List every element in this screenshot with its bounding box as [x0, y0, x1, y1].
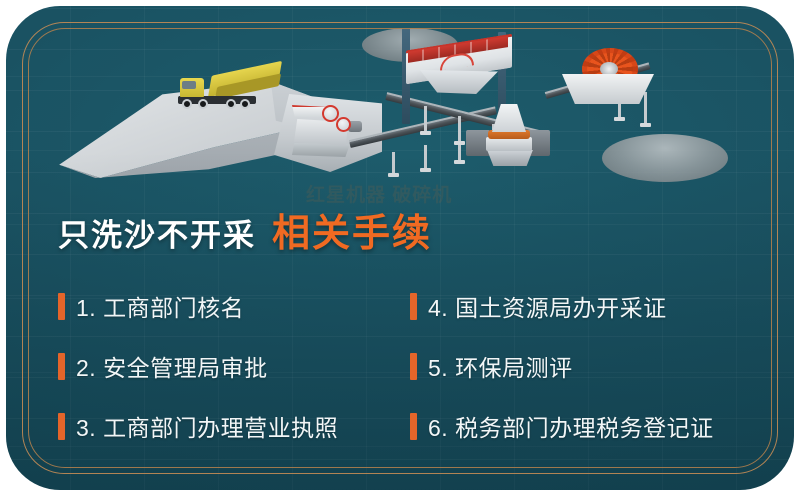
list-item-label: 1. 工商部门核名	[76, 289, 244, 323]
list-item-label: 2. 安全管理局审批	[76, 349, 268, 383]
procedure-column-right: 4. 国土资源局办开采证 5. 环保局测评 6. 税务部门办理税务登记证	[410, 276, 782, 456]
bullet-bar-icon	[410, 413, 417, 440]
bullet-bar-icon	[410, 353, 417, 380]
main-panel: 红星机器 破碎机 只洗沙不开采 相关手续 1. 工商部门核名 2. 安全管理局审…	[6, 6, 794, 490]
bullet-bar-icon	[58, 413, 65, 440]
title-prefix: 只洗沙不开采	[58, 210, 256, 255]
bullet-bar-icon	[58, 293, 65, 320]
list-item-label: 4. 国土资源局办开采证	[428, 289, 667, 323]
list-item: 3. 工商部门办理营业执照	[58, 396, 408, 456]
procedure-column-left: 1. 工商部门核名 2. 安全管理局审批 3. 工商部门办理营业执照	[58, 276, 408, 456]
list-item-label: 5. 环保局测评	[428, 349, 573, 383]
list-item: 6. 税务部门办理税务登记证	[410, 396, 782, 456]
page-title: 只洗沙不开采 相关手续	[58, 202, 432, 257]
bullet-bar-icon	[410, 293, 417, 320]
list-item-label: 6. 税务部门办理税务登记证	[428, 409, 714, 443]
poster-root: 红星机器 破碎机 只洗沙不开采 相关手续 1. 工商部门核名 2. 安全管理局审…	[0, 0, 800, 500]
list-item: 2. 安全管理局审批	[58, 336, 408, 396]
list-item-label: 3. 工商部门办理营业执照	[76, 409, 338, 443]
list-item: 1. 工商部门核名	[58, 276, 408, 336]
title-highlight: 相关手续	[272, 202, 432, 257]
list-item: 5. 环保局测评	[410, 336, 782, 396]
bullet-bar-icon	[58, 353, 65, 380]
list-item: 4. 国土资源局办开采证	[410, 276, 782, 336]
